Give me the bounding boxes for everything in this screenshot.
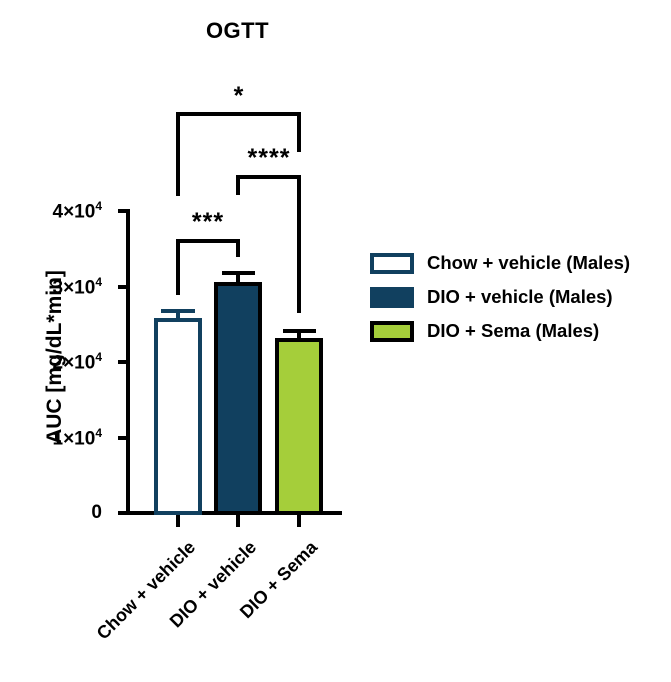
legend-label-chow-vehicle: Chow + vehicle (Males) [427, 252, 630, 274]
sig-label-chow-vs-sema: * [198, 84, 280, 109]
legend: Chow + vehicle (Males) DIO + vehicle (Ma… [370, 246, 630, 348]
y-tick-label-4: 4×104 [18, 200, 102, 221]
bar-chow-vehicle[interactable] [156, 320, 200, 513]
bar-dio-vehicle[interactable] [216, 284, 260, 513]
legend-item-dio-sema[interactable]: DIO + Sema (Males) [370, 314, 630, 348]
y-tick-label-2: 2×104 [18, 351, 102, 372]
legend-swatch-dio-sema [370, 321, 414, 342]
y-tick-label-1: 1×104 [18, 427, 102, 448]
y-tick-label-3: 3×104 [18, 276, 102, 297]
legend-label-dio-vehicle: DIO + vehicle (Males) [427, 286, 613, 308]
legend-swatch-dio-vehicle [370, 287, 414, 308]
bar-dio-sema[interactable] [277, 340, 321, 513]
y-tick-label-0: 0 [18, 503, 102, 522]
sig-label-dio-vehicle-vs-sema: **** [228, 146, 310, 171]
legend-label-dio-sema: DIO + Sema (Males) [427, 320, 599, 342]
sig-label-chow-vs-dio-vehicle: *** [168, 210, 248, 235]
legend-swatch-chow-vehicle [370, 253, 414, 274]
legend-item-chow-vehicle[interactable]: Chow + vehicle (Males) [370, 246, 630, 280]
legend-item-dio-vehicle[interactable]: DIO + vehicle (Males) [370, 280, 630, 314]
figure-root: OGTT AUC [mg/dL*min] [0, 0, 671, 682]
